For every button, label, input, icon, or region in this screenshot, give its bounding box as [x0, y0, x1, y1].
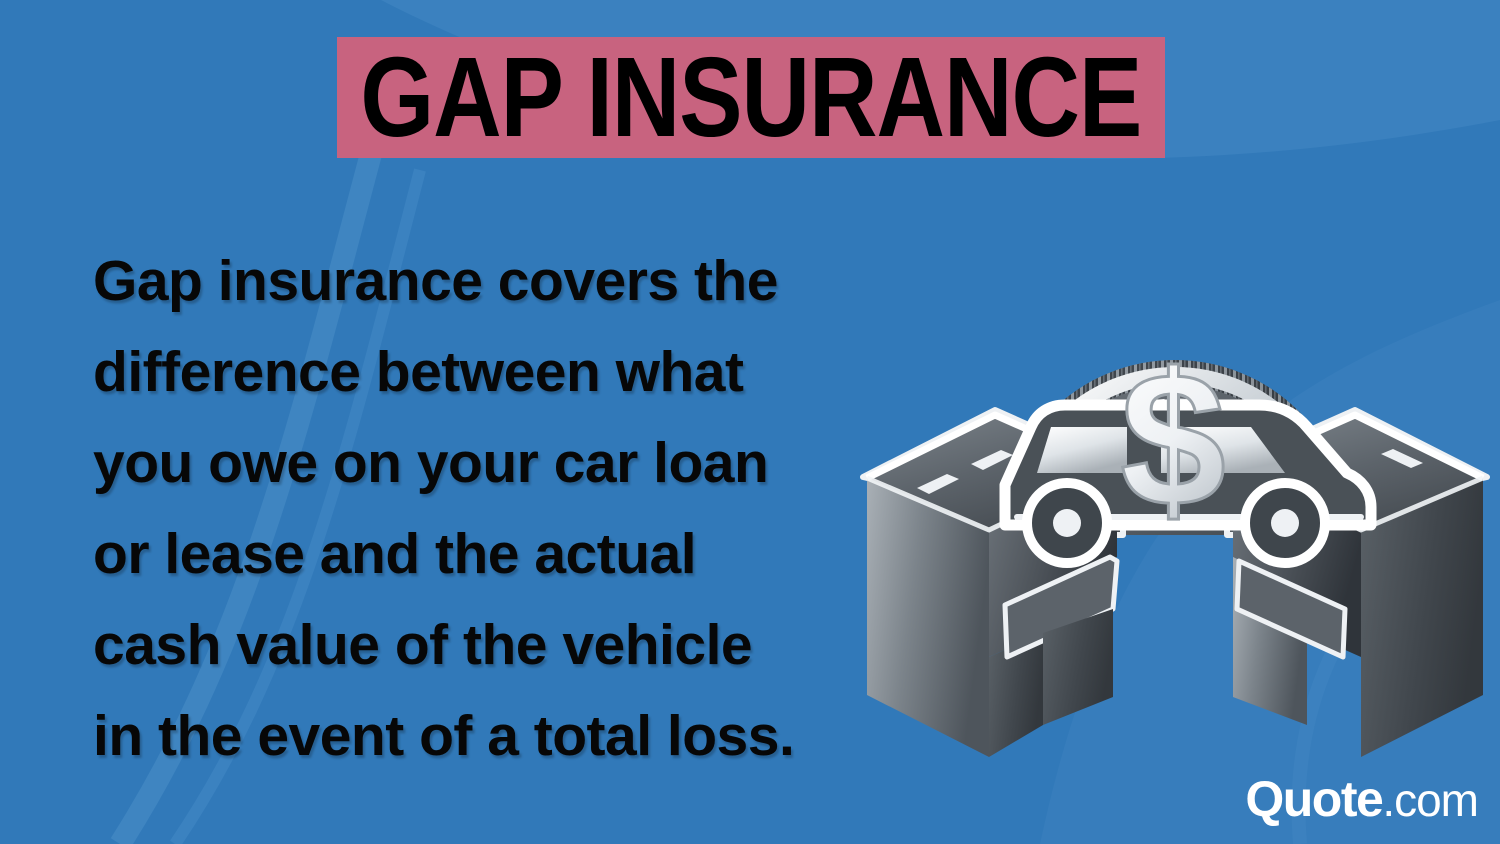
title-banner: GAP INSURANCE	[337, 37, 1165, 158]
body-line-4: or lease and the actual	[93, 509, 883, 600]
logo-tld: .com	[1382, 777, 1478, 823]
car-silhouette: $	[1005, 334, 1371, 563]
page-title: GAP INSURANCE	[361, 41, 1142, 154]
svg-text:$: $	[1120, 334, 1226, 546]
dollar-sign: $	[1120, 334, 1226, 546]
quote-com-logo[interactable]: Quote .com	[1245, 774, 1478, 824]
body-line-1: Gap insurance covers the	[93, 236, 883, 327]
infographic-canvas: GAP INSURANCE Gap insurance covers the d…	[0, 0, 1500, 844]
body-line-3: you owe on your car loan	[93, 418, 883, 509]
broken-bridge-coin-car-illustration: $	[855, 205, 1495, 785]
body-line-2: difference between what	[93, 327, 883, 418]
body-line-5: cash value of the vehicle	[93, 600, 883, 691]
body-copy: Gap insurance covers the difference betw…	[93, 236, 883, 782]
body-line-6: in the event of a total loss.	[93, 691, 883, 782]
logo-wordmark: Quote	[1245, 774, 1382, 824]
